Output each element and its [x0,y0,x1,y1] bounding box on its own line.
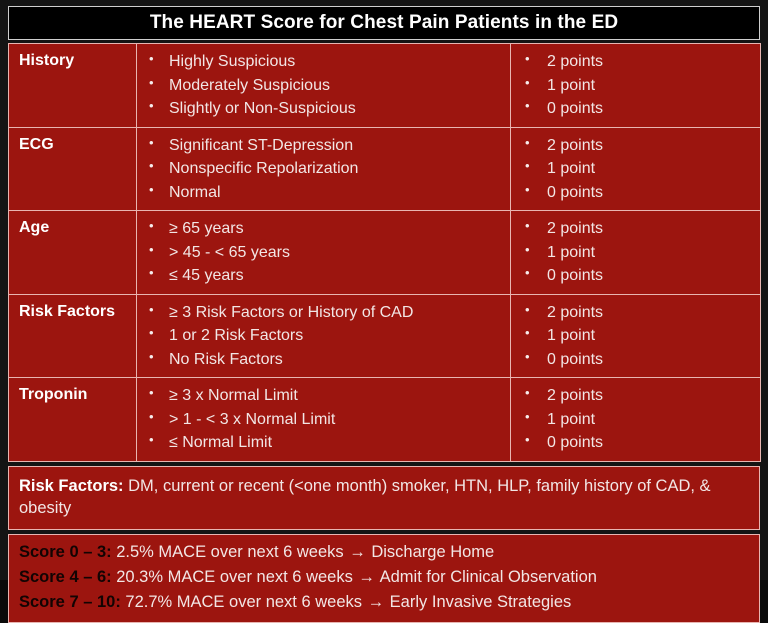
score-range-label: Score 7 – 10: [19,593,121,611]
list-item: Slightly or Non-Suspicious [137,97,510,121]
description-cell-risk-factors: ≥ 3 Risk Factors or History of CAD 1 or … [137,294,511,378]
list-item: 1 point [511,241,760,265]
points-list: 2 points 1 point 0 points [511,211,760,294]
list-item: 2 points [511,384,760,408]
criterion-label: Troponin [9,378,136,405]
description-cell-age: ≥ 65 years > 45 - < 65 years ≤ 45 years [137,211,511,295]
heart-criteria-table: History Highly Suspicious Moderately Sus… [8,43,761,462]
score-interpretation-block: Score 0 – 3: 2.5% MACE over next 6 weeks… [8,534,760,623]
description-cell-troponin: ≥ 3 x Normal Limit > 1 - < 3 x Normal Li… [137,378,511,462]
description-cell-ecg: Significant ST-Depression Nonspecific Re… [137,127,511,211]
table-row: ECG Significant ST-Depression Nonspecifi… [9,127,761,211]
list-item: 1 point [511,74,760,98]
points-cell-troponin: 2 points 1 point 0 points [511,378,761,462]
points-list: 2 points 1 point 0 points [511,378,760,461]
list-item: Significant ST-Depression [137,134,510,158]
list-item: Highly Suspicious [137,50,510,74]
score-line-7-10: Score 7 – 10: 72.7% MACE over next 6 wee… [19,590,749,615]
points-cell-history: 2 points 1 point 0 points [511,44,761,128]
list-item: 1 point [511,324,760,348]
arrow-icon: → [348,543,367,561]
description-list: Highly Suspicious Moderately Suspicious … [137,44,510,127]
score-risk-text: 72.7% MACE over next 6 weeks [121,593,367,611]
list-item: Nonspecific Repolarization [137,157,510,181]
points-list: 2 points 1 point 0 points [511,128,760,211]
score-action-text: Early Invasive Strategies [385,593,571,611]
title-bar: The HEART Score for Chest Pain Patients … [8,6,760,40]
description-list: ≥ 3 x Normal Limit > 1 - < 3 x Normal Li… [137,378,510,461]
list-item: Normal [137,181,510,205]
list-item: > 45 - < 65 years [137,241,510,265]
score-range-label: Score 0 – 3: [19,543,112,561]
table-body: History Highly Suspicious Moderately Sus… [9,44,761,462]
description-list: ≥ 3 Risk Factors or History of CAD 1 or … [137,295,510,378]
description-cell-history: Highly Suspicious Moderately Suspicious … [137,44,511,128]
list-item: 0 points [511,348,760,372]
criterion-label: History [9,44,136,71]
list-item: 0 points [511,97,760,121]
list-item: No Risk Factors [137,348,510,372]
description-list: ≥ 65 years > 45 - < 65 years ≤ 45 years [137,211,510,294]
footnote-text: DM, current or recent (<one month) smoke… [19,477,711,517]
heart-score-card: The HEART Score for Chest Pain Patients … [0,0,768,580]
table-row: Troponin ≥ 3 x Normal Limit > 1 - < 3 x … [9,378,761,462]
points-list: 2 points 1 point 0 points [511,295,760,378]
points-cell-risk-factors: 2 points 1 point 0 points [511,294,761,378]
score-line-4-6: Score 4 – 6: 20.3% MACE over next 6 week… [19,565,749,590]
arrow-icon: → [367,593,386,611]
score-risk-text: 20.3% MACE over next 6 weeks [112,568,358,586]
list-item: 1 point [511,157,760,181]
list-item: ≥ 65 years [137,217,510,241]
table-row: History Highly Suspicious Moderately Sus… [9,44,761,128]
list-item: Moderately Suspicious [137,74,510,98]
description-list: Significant ST-Depression Nonspecific Re… [137,128,510,211]
list-item: ≥ 3 Risk Factors or History of CAD [137,301,510,325]
footnote-label: Risk Factors: [19,477,124,495]
arrow-icon: → [357,568,376,586]
criterion-cell-risk-factors: Risk Factors [9,294,137,378]
list-item: 1 point [511,408,760,432]
points-list: 2 points 1 point 0 points [511,44,760,127]
criterion-cell-troponin: Troponin [9,378,137,462]
list-item: 2 points [511,301,760,325]
score-action-text: Admit for Clinical Observation [376,568,597,586]
criterion-label: Risk Factors [9,295,136,322]
list-item: 0 points [511,264,760,288]
list-item: 2 points [511,50,760,74]
list-item: 1 or 2 Risk Factors [137,324,510,348]
points-cell-age: 2 points 1 point 0 points [511,211,761,295]
criterion-label: ECG [9,128,136,155]
criterion-cell-age: Age [9,211,137,295]
page-title: The HEART Score for Chest Pain Patients … [150,12,618,34]
criterion-label: Age [9,211,136,238]
list-item: ≤ Normal Limit [137,431,510,455]
list-item: 2 points [511,134,760,158]
table-row: Risk Factors ≥ 3 Risk Factors or History… [9,294,761,378]
score-risk-text: 2.5% MACE over next 6 weeks [112,543,349,561]
score-range-label: Score 4 – 6: [19,568,112,586]
criterion-cell-ecg: ECG [9,127,137,211]
list-item: 0 points [511,181,760,205]
list-item: 0 points [511,431,760,455]
list-item: ≥ 3 x Normal Limit [137,384,510,408]
points-cell-ecg: 2 points 1 point 0 points [511,127,761,211]
table-row: Age ≥ 65 years > 45 - < 65 years ≤ 45 ye… [9,211,761,295]
score-line-0-3: Score 0 – 3: 2.5% MACE over next 6 weeks… [19,540,749,565]
risk-factors-definition: Risk Factors: DM, current or recent (<on… [8,466,760,530]
list-item: ≤ 45 years [137,264,510,288]
score-action-text: Discharge Home [367,543,494,561]
list-item: 2 points [511,217,760,241]
criterion-cell-history: History [9,44,137,128]
list-item: > 1 - < 3 x Normal Limit [137,408,510,432]
